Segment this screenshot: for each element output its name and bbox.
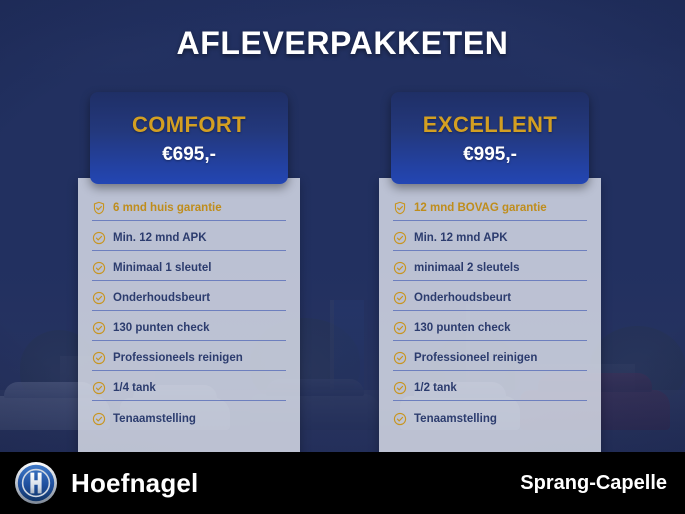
list-item: 130 punten check [92, 316, 286, 341]
feature-label: Min. 12 mnd APK [113, 232, 207, 244]
list-item: Professioneel reinigen [393, 346, 587, 371]
circle-check-icon [393, 261, 407, 275]
feature-label: Min. 12 mnd APK [414, 232, 508, 244]
shield-check-icon [92, 201, 106, 215]
list-item: 1/2 tank [393, 376, 587, 401]
feature-label: Tenaamstelling [113, 413, 196, 425]
list-item: Tenaamstelling [393, 406, 587, 431]
circle-check-icon [92, 261, 106, 275]
feature-label: 130 punten check [113, 322, 210, 334]
circle-check-icon [393, 231, 407, 245]
shield-check-icon [393, 201, 407, 215]
circle-check-icon [92, 291, 106, 305]
feature-label: 12 mnd BOVAG garantie [414, 202, 547, 214]
feature-label: 1/2 tank [414, 382, 457, 394]
circle-check-icon [92, 412, 106, 426]
footer-bar: Hoefnagel Sprang-Capelle [0, 452, 685, 514]
brand-lockup: Hoefnagel [14, 461, 198, 505]
list-item: Min. 12 mnd APK [393, 226, 587, 251]
list-item: 6 mnd huis garantie [92, 196, 286, 221]
feature-label: Minimaal 1 sleutel [113, 262, 211, 274]
circle-check-icon [92, 321, 106, 335]
package-price: €995,- [463, 144, 517, 166]
package-card-header: COMFORT €695,- [90, 92, 288, 184]
hoefnagel-h-monogram-icon [14, 461, 58, 505]
circle-check-icon [393, 381, 407, 395]
feature-label: Professioneel reinigen [414, 352, 537, 364]
package-card-excellent[interactable]: EXCELLENT €995,- 12 mnd BOVAG garantie M… [379, 92, 601, 184]
package-card-header: EXCELLENT €995,- [391, 92, 589, 184]
list-item: Onderhoudsbeurt [92, 286, 286, 311]
feature-list: 12 mnd BOVAG garantie Min. 12 mnd APK mi… [379, 196, 601, 436]
package-name: COMFORT [132, 112, 246, 138]
feature-label: Tenaamstelling [414, 413, 497, 425]
feature-label: 130 punten check [414, 322, 511, 334]
feature-label: Professioneels reinigen [113, 352, 243, 364]
list-item: Minimaal 1 sleutel [92, 256, 286, 281]
circle-check-icon [92, 231, 106, 245]
feature-label: 6 mnd huis garantie [113, 202, 222, 214]
circle-check-icon [92, 351, 106, 365]
list-item: Professioneels reinigen [92, 346, 286, 371]
list-item: Onderhoudsbeurt [393, 286, 587, 311]
list-item: 12 mnd BOVAG garantie [393, 196, 587, 221]
list-item: Min. 12 mnd APK [92, 226, 286, 251]
feature-label: Onderhoudsbeurt [113, 292, 210, 304]
circle-check-icon [92, 381, 106, 395]
list-item: minimaal 2 sleutels [393, 256, 587, 281]
slide: AFLEVERPAKKETEN COMFORT €695,- 6 mnd hui… [0, 0, 685, 514]
feature-label: 1/4 tank [113, 382, 156, 394]
circle-check-icon [393, 321, 407, 335]
circle-check-icon [393, 291, 407, 305]
page-title: AFLEVERPAKKETEN [0, 25, 685, 62]
feature-label: minimaal 2 sleutels [414, 262, 519, 274]
list-item: 1/4 tank [92, 376, 286, 401]
list-item: Tenaamstelling [92, 406, 286, 431]
feature-label: Onderhoudsbeurt [414, 292, 511, 304]
circle-check-icon [393, 351, 407, 365]
brand-name: Hoefnagel [71, 468, 198, 499]
location-label: Sprang-Capelle [520, 472, 667, 495]
package-price: €695,- [162, 144, 216, 166]
circle-check-icon [393, 412, 407, 426]
feature-list: 6 mnd huis garantie Min. 12 mnd APK Mini… [78, 196, 300, 436]
package-name: EXCELLENT [423, 112, 557, 138]
list-item: 130 punten check [393, 316, 587, 341]
package-card-comfort[interactable]: COMFORT €695,- 6 mnd huis garantie Min. … [78, 92, 300, 184]
